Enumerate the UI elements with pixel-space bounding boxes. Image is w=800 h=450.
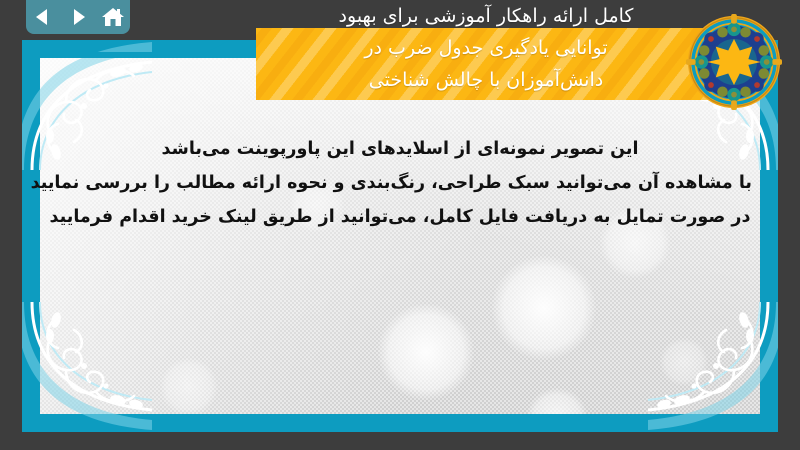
back-button[interactable] xyxy=(30,4,56,30)
persian-medallion-ornament-icon xyxy=(686,14,782,110)
bokeh-circle xyxy=(160,358,218,414)
slide-root: این تصویر نمونه‌ای از اسلایدهای این پاور… xyxy=(0,0,800,450)
bokeh-circle xyxy=(492,256,596,360)
body-line-1: این تصویر نمونه‌ای از اسلایدهای این پاور… xyxy=(48,132,752,166)
home-icon xyxy=(101,6,125,28)
bokeh-circle xyxy=(660,338,708,386)
back-triangle-icon xyxy=(32,6,54,28)
title-banner xyxy=(256,28,712,100)
navigation-controls[interactable] xyxy=(26,0,130,34)
blue-accent-strip xyxy=(22,52,202,58)
body-line-2: با مشاهده آن می‌توانید سبک طراحی، رنگ‌بن… xyxy=(48,166,752,200)
forward-button[interactable] xyxy=(65,4,91,30)
bokeh-circle xyxy=(378,304,474,400)
home-button[interactable] xyxy=(100,4,126,30)
body-line-3: در صورت تمایل به دریافت فایل کامل، می‌تو… xyxy=(48,200,752,234)
forward-triangle-icon xyxy=(67,6,89,28)
body-text-block: این تصویر نمونه‌ای از اسلایدهای این پاور… xyxy=(48,132,752,234)
slide-canvas xyxy=(40,58,760,414)
